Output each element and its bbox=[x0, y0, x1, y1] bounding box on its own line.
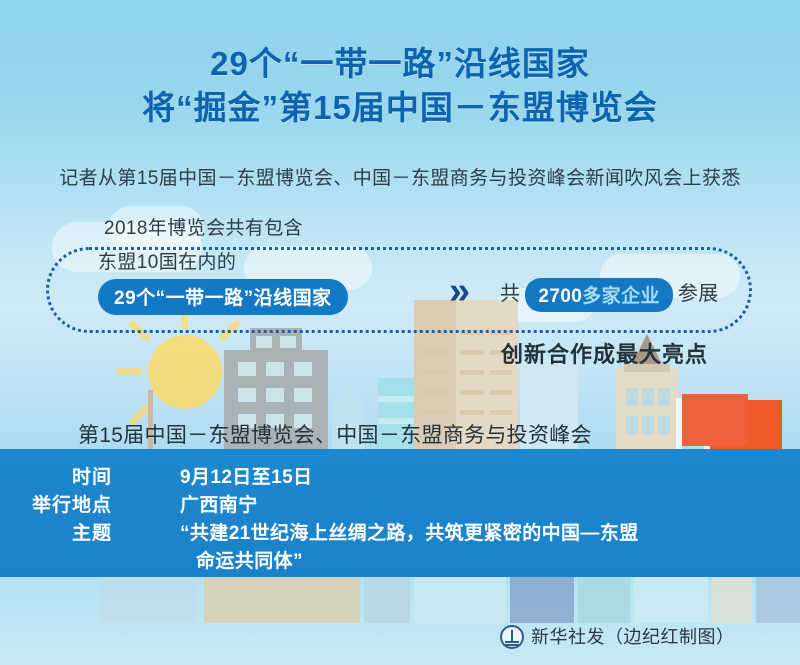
enterprise-count: 2700 bbox=[538, 286, 582, 307]
info-panel: 时间 9月12日至15日 举行地点 广西南宁 主题 “共建21世纪海上丝绸之路，… bbox=[0, 449, 800, 577]
title-line-2: 将“掘金”第15届中国－东盟博览会 bbox=[0, 86, 800, 130]
building-tower-castle bbox=[616, 368, 678, 460]
info-label-time: 时间 bbox=[0, 462, 112, 489]
callout-right-pill: 2700多家企业 bbox=[525, 278, 672, 312]
callout-left-text: 东盟10国在内的 bbox=[98, 250, 448, 276]
infographic-poster: 29个“一带一路”沿线国家 将“掘金”第15届中国－东盟博览会 记者从第15届中… bbox=[0, 0, 800, 665]
highlight-text: 创新合作成最大亮点 bbox=[501, 337, 708, 369]
xinhua-logo-icon bbox=[500, 625, 524, 649]
info-label-theme: 主题 bbox=[0, 518, 112, 545]
callout-right: 共2700多家企业参展 bbox=[500, 277, 719, 312]
info-value-theme: “共建21世纪海上丝绸之路，共筑更紧密的中国—东盟 bbox=[180, 518, 639, 545]
poster-title: 29个“一带一路”沿线国家 将“掘金”第15届中国－东盟博览会 bbox=[0, 42, 800, 130]
double-chevron-right-icon: » bbox=[449, 272, 470, 310]
credit-line: 新华社发（边纪红制图） bbox=[500, 623, 735, 649]
title-line-1: 29个“一带一路”沿线国家 bbox=[0, 42, 800, 86]
callout-left: 东盟10国在内的 29个“一带一路”沿线国家 bbox=[98, 250, 448, 315]
credit-text: 新华社发（边纪红制图） bbox=[531, 627, 735, 647]
callout-right-suffix: 参展 bbox=[678, 283, 719, 305]
info-value-location: 广西南宁 bbox=[180, 490, 258, 517]
callout-right-prefix: 共 bbox=[500, 283, 520, 305]
poster-subtitle: 记者从第15届中国－东盟博览会、中国－东盟商务与投资峰会新闻吹风会上获悉 bbox=[0, 163, 800, 190]
callout-left-pill: 29个“一带一路”沿线国家 bbox=[98, 279, 348, 315]
flag-red-back bbox=[682, 394, 748, 446]
enterprise-count-suffix: 多家企业 bbox=[582, 286, 660, 307]
info-label-location: 举行地点 bbox=[0, 490, 112, 517]
info-value-time: 9月12日至15日 bbox=[180, 462, 312, 489]
lead-text: 2018年博览会共有包含 bbox=[104, 213, 303, 240]
info-value-theme-cont: 命运共同体” bbox=[196, 546, 303, 573]
event-name-line: 第15届中国－东盟博览会、中国－东盟商务与投资峰会 bbox=[78, 419, 592, 449]
